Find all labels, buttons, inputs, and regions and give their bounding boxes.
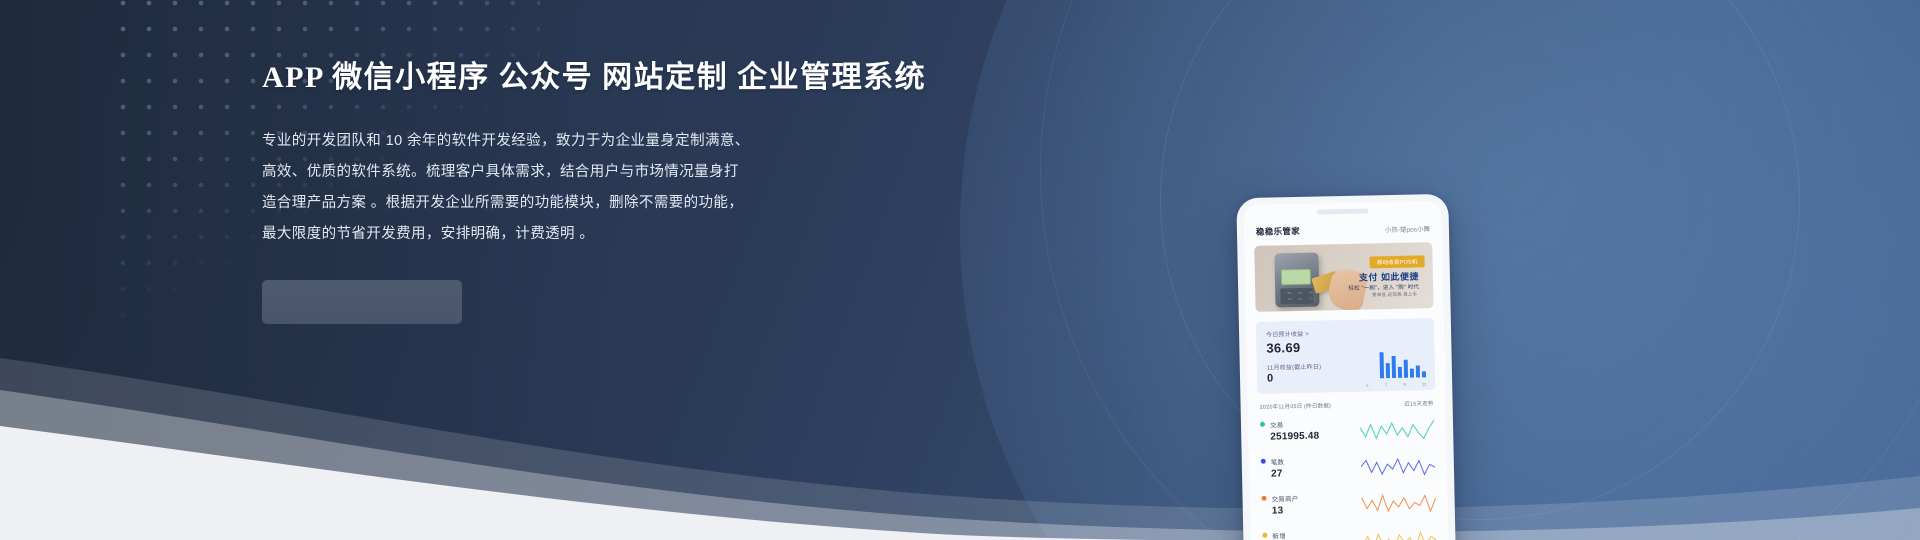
metric-value: 27 (1271, 468, 1285, 479)
earnings-chart-axis: 57911 (1366, 381, 1426, 387)
page-title: APP 微信小程序 公众号 网站定制 企业管理系统 (262, 58, 1082, 98)
banner-sub: 轻松 "一刷"，进入 "刷" 时代 (1348, 282, 1419, 291)
list-item[interactable]: 笔数27 (1261, 448, 1436, 489)
sparkline-chart (1360, 416, 1435, 444)
metric-info: 笔数27 (1261, 456, 1285, 479)
paragraph-line-2: 高效、优质的软件系统。梳理客户具体需求，结合用户与市场情况量身打 (262, 157, 782, 188)
list-item[interactable]: 交易251995.48 (1260, 411, 1435, 452)
metric-info: 交易商户13 (1261, 493, 1298, 517)
chart-bar (1410, 369, 1414, 378)
cta-row (262, 280, 1082, 324)
sparkline-chart (1361, 490, 1436, 518)
phone-mockup: 稳稳乐管家 小热-楚pos小舞 移动收录POS机 支付 如此便捷 轻松 "一刷"… (1236, 194, 1455, 540)
chart-axis-tick: 9 (1403, 382, 1405, 387)
chart-axis-tick: 7 (1385, 382, 1387, 387)
paragraph-line-1: 专业的开发团队和 10 余年的软件开发经验，致力于为企业量身定制满意、 (262, 126, 782, 157)
today-earnings-label[interactable]: 今日预计收益 > (1266, 326, 1424, 338)
chart-bar (1392, 356, 1396, 378)
banner-headline: 支付 如此便捷 (1359, 269, 1419, 283)
metric-value: 13 (1272, 505, 1299, 517)
chart-bar (1386, 363, 1390, 378)
list-item[interactable]: 新增 (1262, 522, 1437, 540)
chart-bar (1398, 367, 1402, 378)
paragraph-line-4: 最大限度的节省开发费用，安排明确，计费透明 。 (262, 219, 782, 250)
chart-bar (1380, 352, 1385, 378)
earnings-card[interactable]: 今日预计收益 > 36.69 11月收益(截止昨日) 0 57911 (1256, 318, 1435, 394)
list-item[interactable]: 交易商户13 (1261, 485, 1436, 526)
banner-tag: 移动收录POS机 (1370, 255, 1425, 268)
app-user: 小热-楚pos小舞 (1385, 223, 1430, 234)
app-header: 稳稳乐管家 小热-楚pos小舞 (1244, 212, 1443, 246)
metric-label: 笔数 (1271, 456, 1285, 466)
hero-paragraph: 专业的开发团队和 10 余年的软件开发经验，致力于为企业量身定制满意、 高效、优… (262, 126, 782, 250)
metric-label: 交易商户 (1271, 493, 1298, 504)
paragraph-line-3: 造合理产品方案 。根据开发企业所需要的功能模块，删除不需要的功能， (262, 188, 782, 219)
metrics-list: 交易251995.48笔数27交易商户13新增 (1248, 411, 1449, 540)
chart-bar (1404, 360, 1408, 378)
chart-bar (1416, 365, 1420, 377)
status-dot-icon (1261, 496, 1266, 501)
chart-axis-tick: 5 (1366, 383, 1368, 388)
sparkline-chart (1361, 453, 1436, 481)
metric-info: 新增 (1262, 530, 1286, 540)
status-dot-icon (1260, 422, 1265, 427)
pos-keypad-graphic (1280, 288, 1313, 305)
hero-banner: APP 微信小程序 公众号 网站定制 企业管理系统 专业的开发团队和 10 余年… (0, 0, 1920, 540)
app-title: 稳稳乐管家 (1256, 225, 1300, 238)
metric-value: 251995.48 (1270, 431, 1319, 443)
status-dot-icon (1262, 533, 1267, 538)
chart-bar (1422, 371, 1426, 377)
status-dot-icon (1261, 459, 1266, 464)
banner-sub-secondary: 费率低 返现高 易上手 (1372, 291, 1417, 298)
cta-button[interactable] (262, 280, 462, 324)
chart-axis-tick: 11 (1422, 381, 1426, 386)
metric-label: 新增 (1272, 530, 1286, 540)
earnings-bar-chart (1379, 347, 1426, 378)
pos-screen-graphic (1281, 269, 1311, 286)
app-banner[interactable]: 移动收录POS机 支付 如此便捷 轻松 "一刷"，进入 "刷" 时代 费率低 返… (1254, 242, 1433, 312)
metric-label: 交易 (1270, 419, 1319, 430)
sparkline-chart (1362, 527, 1437, 540)
data-date: 2020年11月05日 (昨日数据) (1260, 401, 1332, 410)
trend-label: 近15天走势 (1404, 399, 1433, 408)
hero-copy: APP 微信小程序 公众号 网站定制 企业管理系统 专业的开发团队和 10 余年… (262, 58, 1082, 324)
metric-info: 交易251995.48 (1260, 419, 1320, 443)
